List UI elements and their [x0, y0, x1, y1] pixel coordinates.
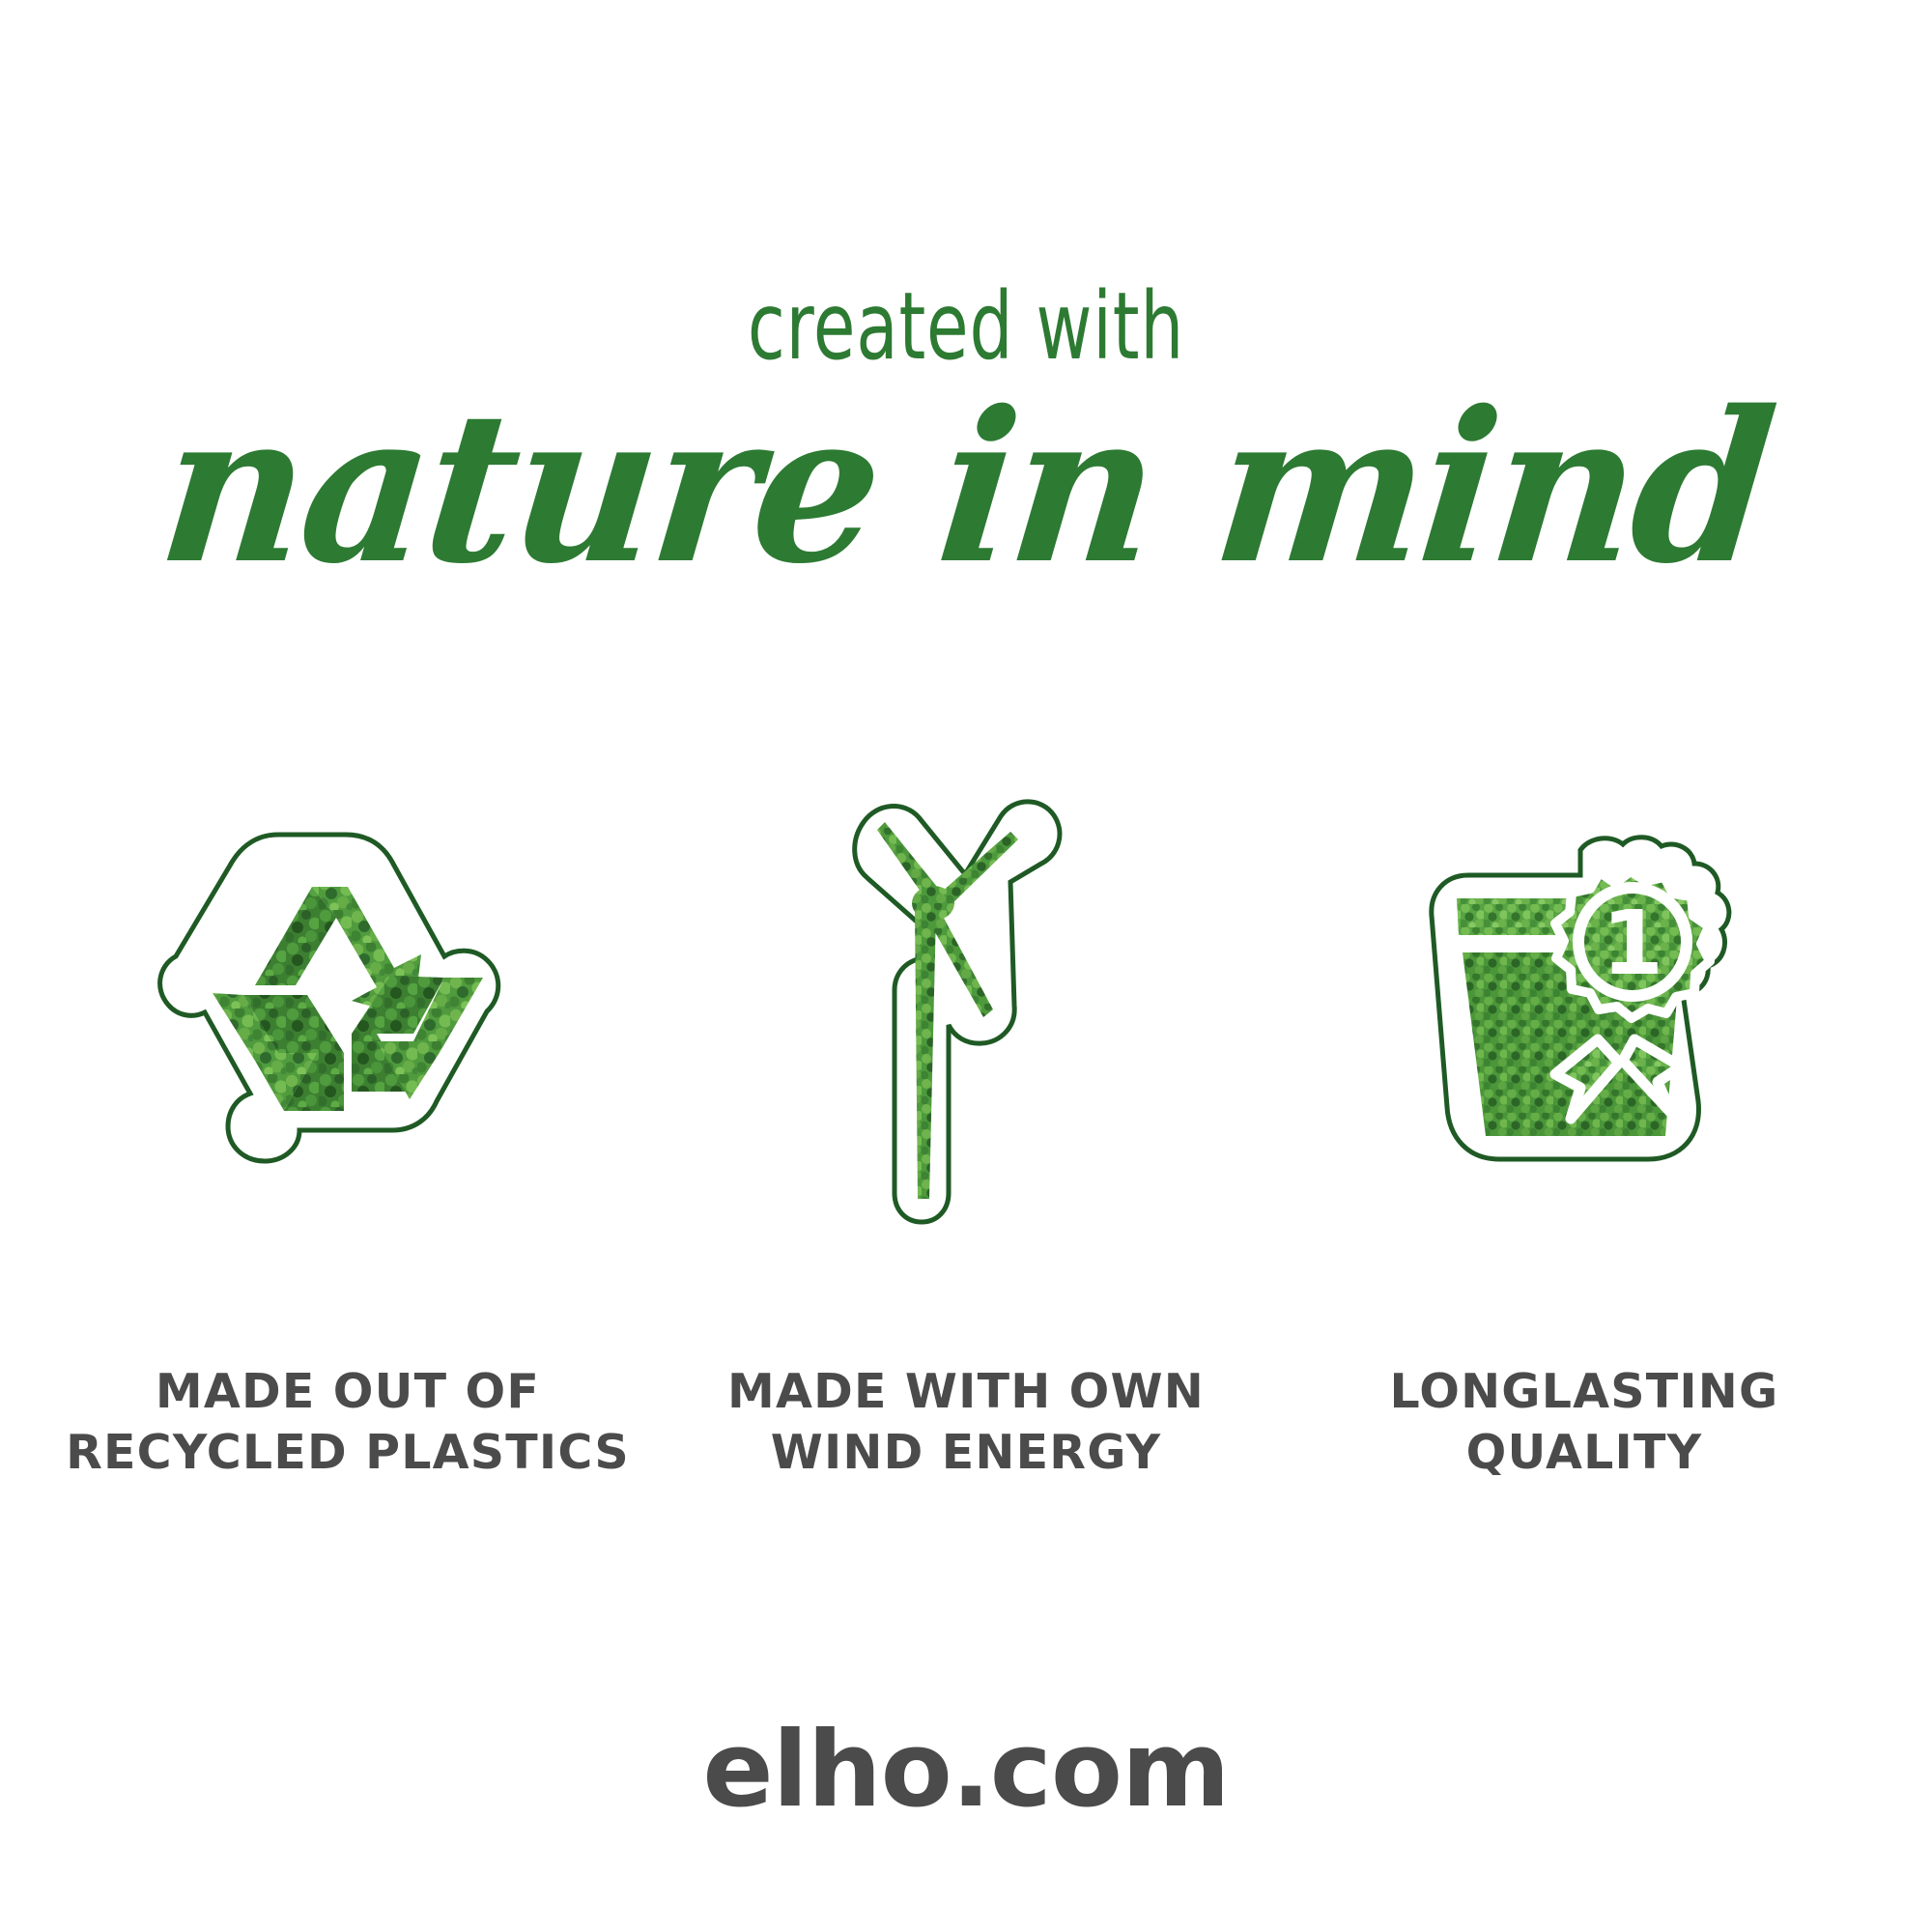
- award-badge-number: 1: [1602, 892, 1663, 995]
- feature-row: MADE OUT OF RECYCLED PLASTICS: [0, 782, 1932, 1483]
- footer: elho.com: [0, 1710, 1932, 1831]
- flowerpot-award-icon: 1: [1391, 811, 1777, 1198]
- feature-label-recycled-plastics: MADE OUT OF RECYCLED PLASTICS: [66, 1362, 630, 1483]
- wind-turbine-icon: [821, 778, 1111, 1232]
- feature-longlasting-quality: 1 LONGLASTING QUALITY: [1294, 782, 1874, 1483]
- turbine-hub: [912, 886, 954, 921]
- feature-label-wind-energy: MADE WITH OWN WIND ENERGY: [727, 1362, 1205, 1483]
- website-link[interactable]: elho.com: [702, 1710, 1229, 1831]
- poster-canvas: created with nature in mind: [0, 0, 1932, 1932]
- headline-block: created with nature in mind: [0, 280, 1932, 597]
- headline-line-created-with: created with: [174, 280, 1758, 373]
- recycle-icon: [155, 811, 541, 1198]
- wind-turbine-icon-wrap: [821, 782, 1111, 1227]
- turbine-sticker-outline: [855, 802, 1060, 1222]
- headline-line-nature-in-mind: nature in mind: [37, 379, 1895, 597]
- feature-label-longlasting-quality: LONGLASTING QUALITY: [1390, 1362, 1779, 1483]
- flowerpot-award-icon-wrap: 1: [1391, 782, 1777, 1227]
- feature-recycled-plastics: MADE OUT OF RECYCLED PLASTICS: [58, 782, 638, 1483]
- recycle-icon-wrap: [155, 782, 541, 1227]
- feature-wind-energy: MADE WITH OWN WIND ENERGY: [676, 782, 1256, 1483]
